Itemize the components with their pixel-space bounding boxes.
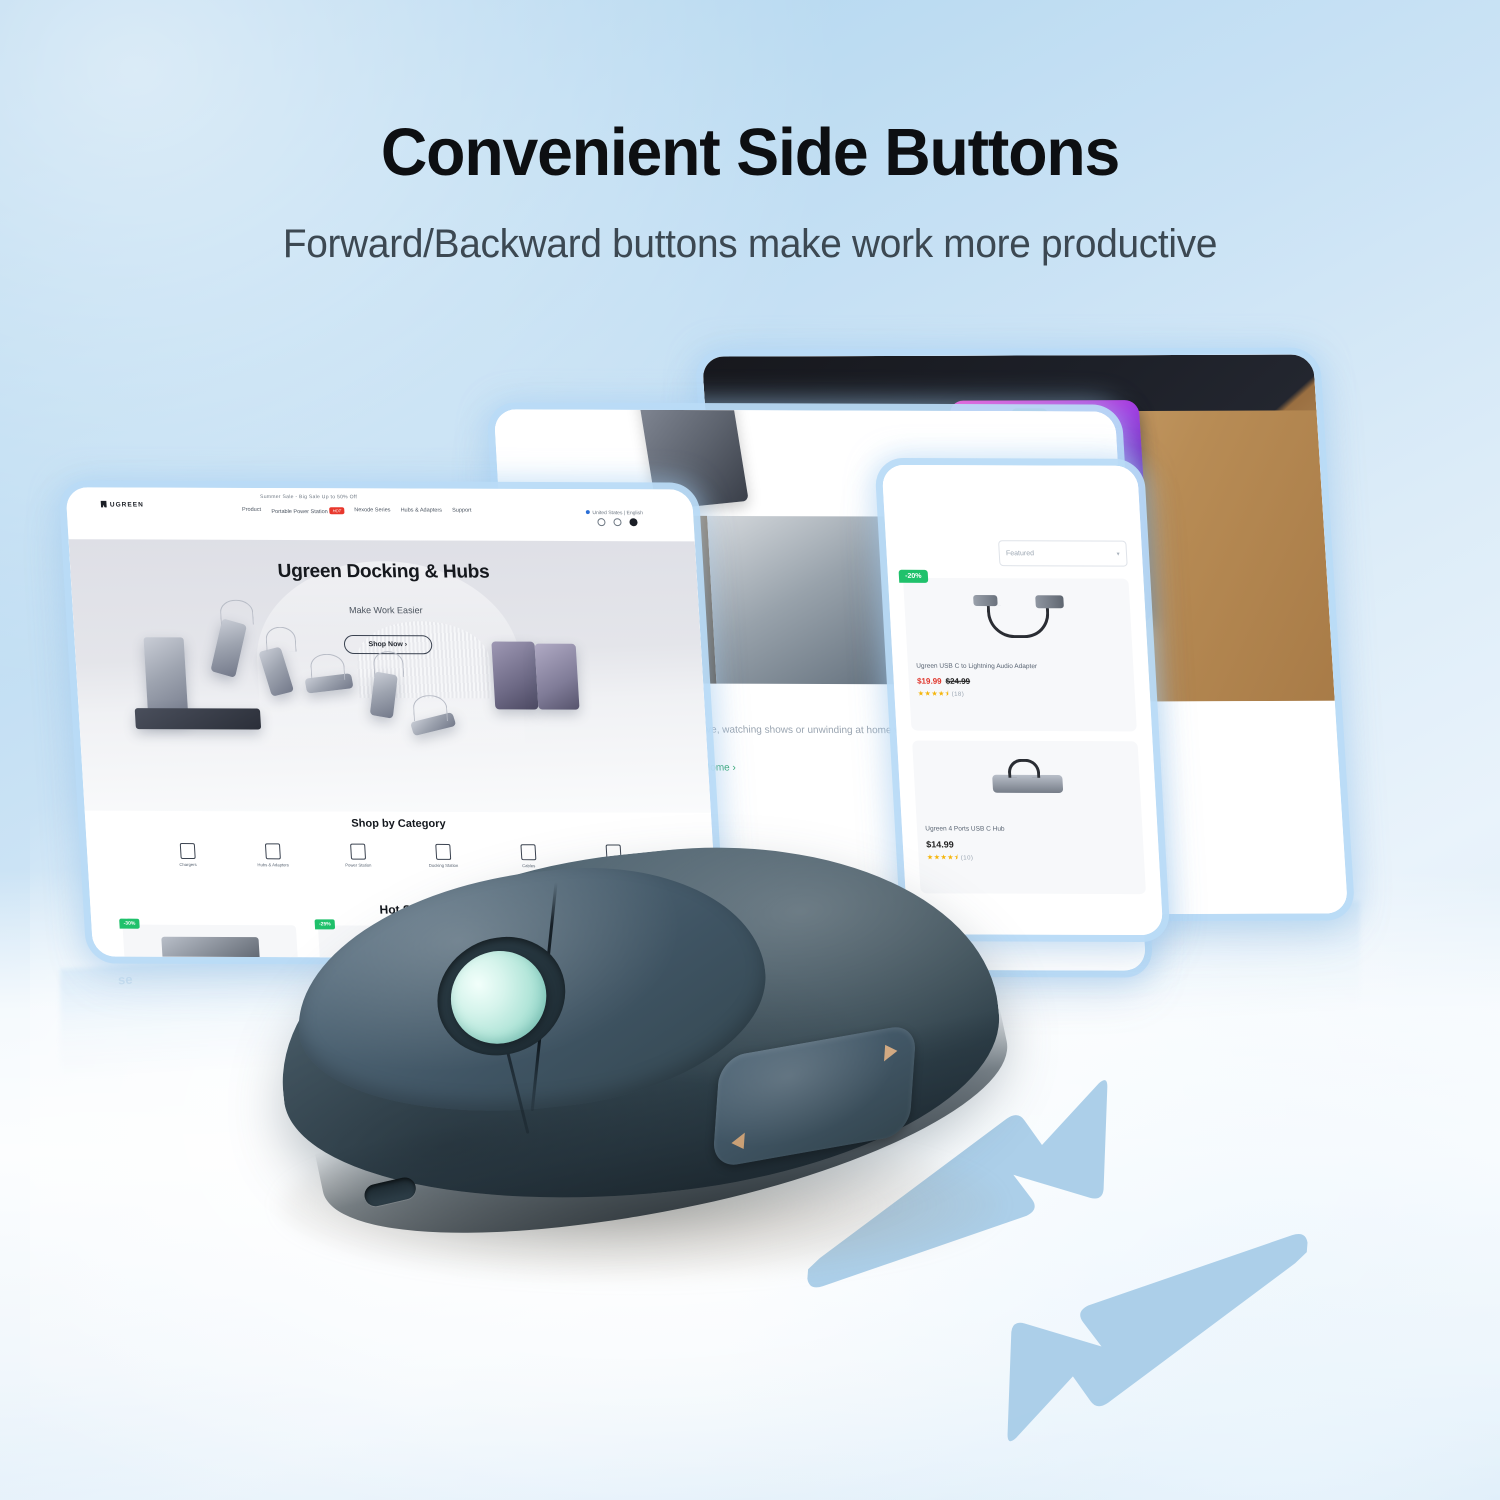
page-subtitle: Forward/Backward buttons make work more … (23, 222, 1478, 267)
back-triangle-icon (731, 1133, 745, 1152)
product-marketing-banner: Convenient Side Buttons Forward/Backward… (0, 0, 1500, 1500)
scroll-wheel-well (418, 917, 584, 1076)
mouse-click-surface[interactable] (285, 849, 777, 1133)
page-title: Convenient Side Buttons (30, 118, 1470, 188)
scroll-wheel[interactable] (436, 936, 561, 1059)
side-button-panel[interactable] (712, 1023, 917, 1169)
wireless-mouse[interactable] (260, 830, 1040, 1310)
forward-triangle-icon (884, 1043, 898, 1062)
heading-block: Convenient Side Buttons Forward/Backward… (0, 118, 1500, 267)
